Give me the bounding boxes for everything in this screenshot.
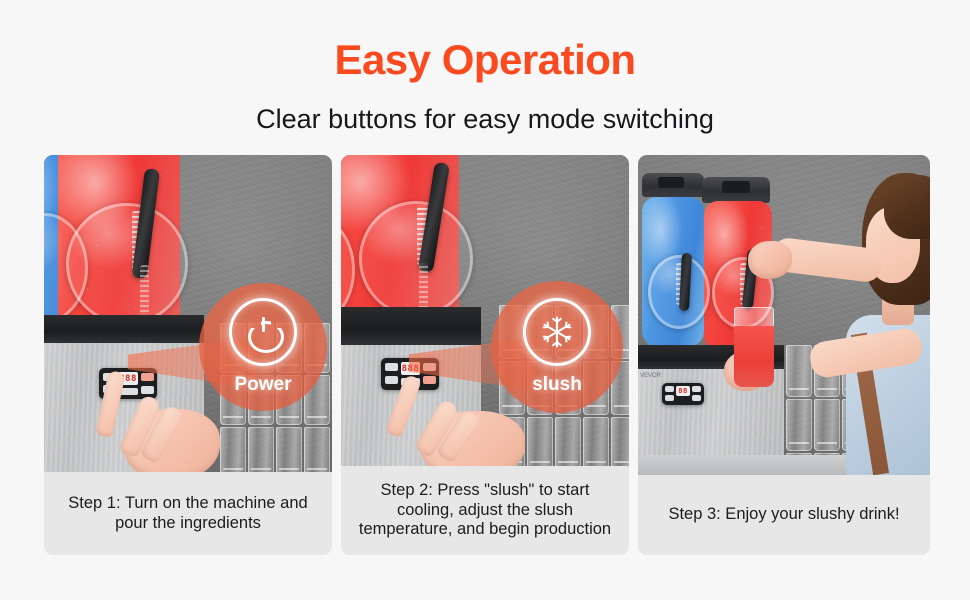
person-hair-front bbox=[884, 175, 930, 239]
callout-label: slush bbox=[532, 374, 582, 396]
steps-gallery: 888 bbox=[44, 155, 930, 555]
step-2-caption: Step 2: Press "slush" to start cooling, … bbox=[341, 466, 629, 555]
step-3-caption: Step 3: Enjoy your slushy drink! bbox=[638, 475, 930, 555]
control-button-left-top[interactable] bbox=[385, 363, 398, 371]
step-card-1: 888 bbox=[44, 155, 332, 555]
machine-top-deck bbox=[341, 307, 481, 345]
slush-callout-bubble: slush bbox=[491, 281, 623, 413]
page-subtitle: Clear buttons for easy mode switching bbox=[0, 103, 970, 135]
bowl-front-red bbox=[66, 203, 188, 325]
step-2-photo: 888 bbox=[341, 155, 629, 466]
tap-stem bbox=[140, 265, 149, 317]
step-card-2: 888 bbox=[341, 155, 629, 555]
tap-stem bbox=[419, 263, 428, 313]
callout-label: Power bbox=[234, 374, 291, 396]
power-icon bbox=[229, 298, 297, 366]
machine-top-deck bbox=[44, 315, 204, 343]
snowflake-icon bbox=[523, 298, 591, 366]
slush-cup bbox=[734, 307, 774, 387]
customer-person bbox=[638, 155, 930, 475]
step-1-caption: Step 1: Turn on the machine and pour the… bbox=[44, 472, 332, 555]
step-3-photo: VEVOR 88 bbox=[638, 155, 930, 475]
step-card-3: VEVOR 88 bbox=[638, 155, 930, 555]
promo-page: Easy Operation Clear buttons for easy mo… bbox=[0, 0, 970, 600]
person-hand-on-tap bbox=[748, 241, 792, 281]
power-callout-bubble: Power bbox=[199, 283, 327, 411]
bowl-front-red bbox=[359, 201, 473, 317]
step-1-photo: 888 bbox=[44, 155, 332, 472]
page-title: Easy Operation bbox=[0, 38, 970, 82]
